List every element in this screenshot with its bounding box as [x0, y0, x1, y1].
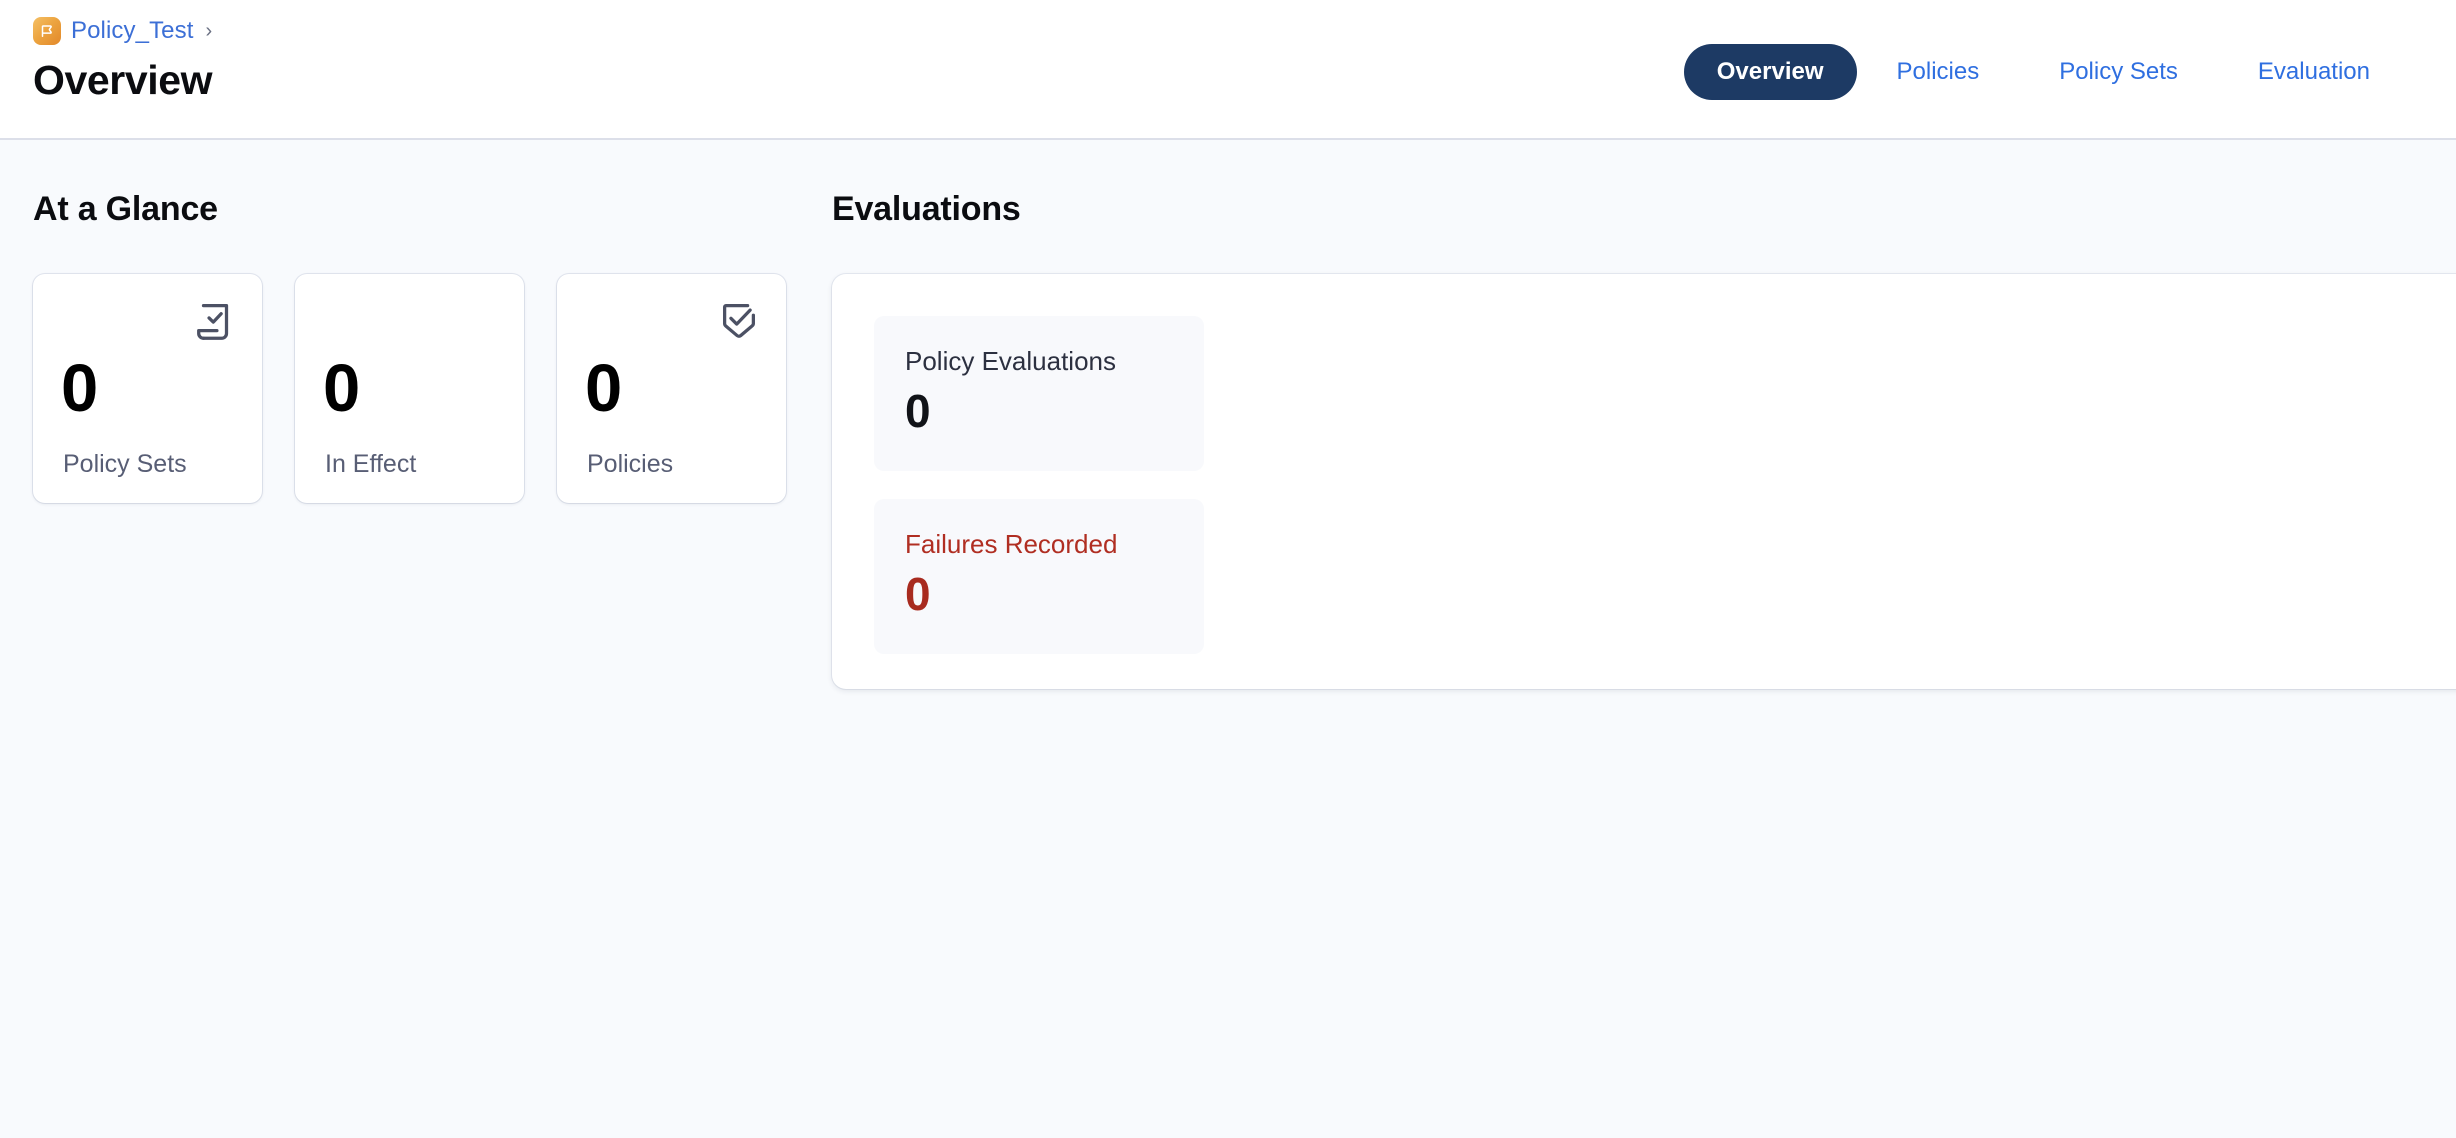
eval-tile-label: Policy Evaluations: [905, 345, 1173, 377]
stat-card-list: 0 Policy Sets 0 In Effect 0 Policies: [33, 274, 793, 503]
eval-tile-value: 0: [905, 383, 1173, 439]
shield-check-icon: [716, 298, 762, 344]
stat-card-policies[interactable]: 0 Policies: [557, 274, 786, 503]
eval-tile-label: Failures Recorded: [905, 528, 1173, 560]
breadcrumb: Policy_Test ›: [33, 16, 212, 46]
eval-tile-policy-evaluations[interactable]: Policy Evaluations 0: [874, 316, 1204, 471]
nav-item-evaluation[interactable]: Evaluation: [2218, 57, 2410, 87]
stat-label: Policy Sets: [63, 449, 187, 479]
nav-item-policy-sets[interactable]: Policy Sets: [2019, 57, 2218, 87]
chevron-right-icon: ›: [205, 17, 212, 45]
stat-card-in-effect[interactable]: 0 In Effect: [295, 274, 524, 503]
document-check-icon: [192, 298, 238, 344]
evaluations-section: Evaluations Policy Evaluations 0 Failure…: [832, 190, 2456, 689]
main-content: At a Glance 0 Policy Sets 0 In Effect: [0, 140, 2456, 1138]
stat-value: 0: [323, 352, 359, 426]
primary-nav: Overview Policies Policy Sets Evaluation: [1684, 44, 2410, 100]
stat-card-policy-sets[interactable]: 0 Policy Sets: [33, 274, 262, 503]
page-title: Overview: [33, 56, 212, 104]
evaluations-heading: Evaluations: [832, 190, 2456, 229]
eval-tile-failures-recorded[interactable]: Failures Recorded 0: [874, 499, 1204, 654]
policy-flag-icon: [33, 17, 61, 45]
stat-value: 0: [61, 352, 97, 426]
evaluations-panel: Policy Evaluations 0 Failures Recorded 0: [832, 274, 2456, 689]
stat-label: Policies: [587, 449, 673, 479]
app-header: Policy_Test › Overview Overview Policies…: [0, 0, 2456, 140]
nav-item-policies[interactable]: Policies: [1857, 57, 2020, 87]
stat-label: In Effect: [325, 449, 416, 479]
eval-tile-value: 0: [905, 566, 1173, 622]
at-a-glance-heading: At a Glance: [33, 190, 793, 229]
breadcrumb-workspace-link[interactable]: Policy_Test: [71, 17, 193, 45]
stat-value: 0: [585, 352, 621, 426]
at-a-glance-section: At a Glance 0 Policy Sets 0 In Effect: [33, 190, 793, 503]
nav-item-overview[interactable]: Overview: [1684, 44, 1857, 100]
header-left-group: Policy_Test › Overview: [33, 16, 212, 104]
